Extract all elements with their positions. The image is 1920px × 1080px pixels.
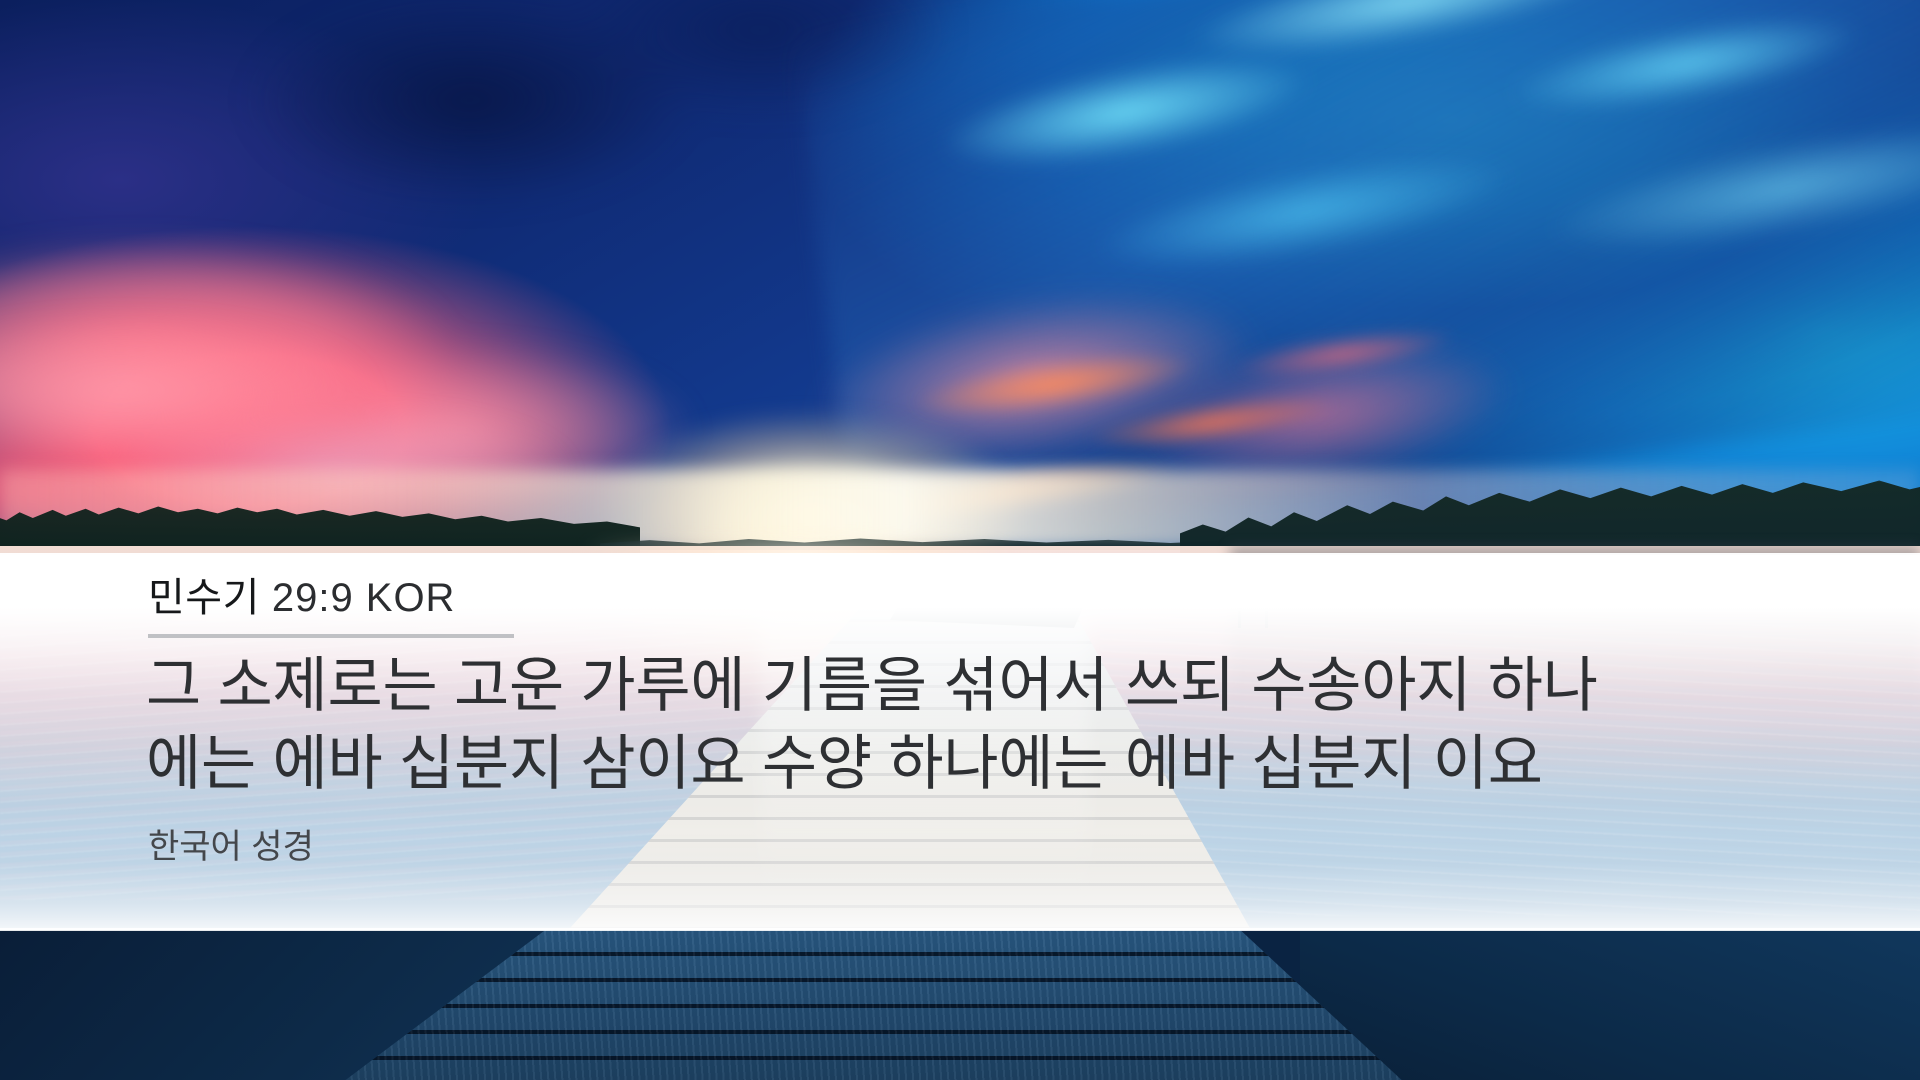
verse-text: 그 소제로는 고운 가루에 기름을 섞어서 쓰되 수송아지 하나 에는 에바 십… — [146, 647, 1846, 803]
verse-translation: KOR — [366, 576, 456, 620]
foreground-water-right — [1300, 930, 1920, 1080]
verse-book-name: 민수기 — [148, 576, 260, 620]
verse-chapter-verse: 29:9 — [272, 576, 354, 620]
verse-image-card: 민수기29:9KOR 그 소제로는 고운 가루에 기름을 섞어서 쓰되 수송아지… — [0, 0, 1920, 1080]
verse-content: 민수기29:9KOR 그 소제로는 고운 가루에 기름을 섞어서 쓰되 수송아지… — [0, 555, 1920, 930]
verse-text-line-1: 그 소제로는 고운 가루에 기름을 섞어서 쓰되 수송아지 하나 — [146, 647, 1846, 725]
verse-reference: 민수기29:9KOR — [148, 572, 455, 624]
bible-version-attribution: 한국어 성경 — [148, 825, 314, 869]
verse-text-line-2: 에는 에바 십분지 삼이요 수양 하나에는 에바 십분지 이요 — [146, 725, 1846, 803]
reference-underline-rule — [148, 634, 514, 638]
